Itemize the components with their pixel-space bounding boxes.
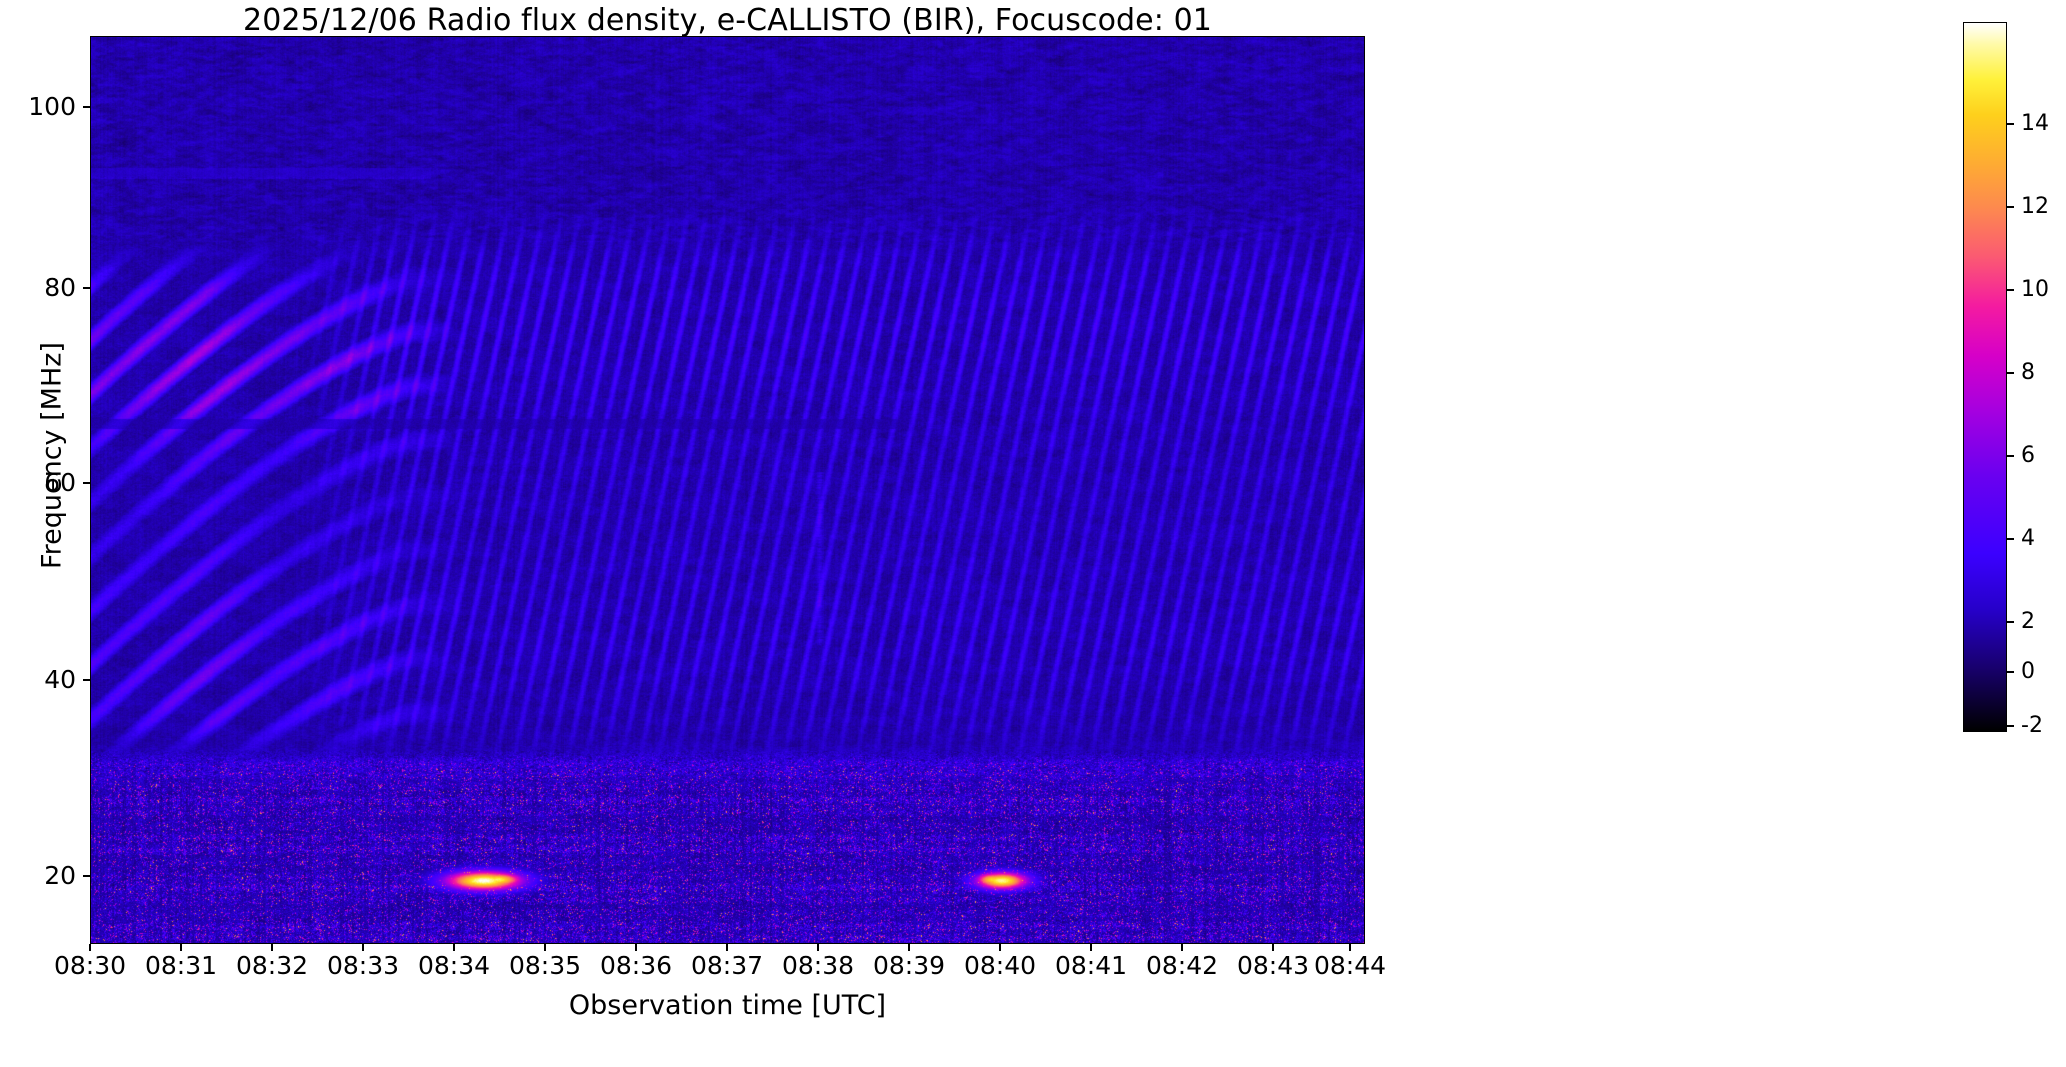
y-tick-mark: [83, 875, 90, 877]
y-tick-mark: [83, 482, 90, 484]
colorbar-tick-mark: [2007, 206, 2014, 208]
colorbar-tick-label: 14: [2021, 113, 2049, 135]
x-tick-mark: [453, 944, 455, 951]
y-tick-mark: [83, 106, 90, 108]
x-tick-mark: [1090, 944, 1092, 951]
colorbar-tick-label: 10: [2021, 279, 2049, 301]
colorbar-tick-label: 6: [2021, 445, 2035, 467]
x-tick-label: 08:44: [1290, 952, 1410, 980]
x-tick-mark: [999, 944, 1001, 951]
colorbar-tick-label: 0: [2021, 661, 2035, 683]
x-tick-mark: [1349, 944, 1351, 951]
y-tick-mark: [83, 287, 90, 289]
chart-title: 2025/12/06 Radio flux density, e-CALLIST…: [0, 4, 1455, 38]
colorbar-tick-mark: [2007, 372, 2014, 374]
colorbar-tick-mark: [2007, 289, 2014, 291]
colorbar-tick-mark: [2007, 671, 2014, 673]
y-tick-label: 100: [0, 94, 76, 119]
colorbar-tick-mark: [2007, 725, 2014, 727]
x-tick-mark: [817, 944, 819, 951]
colorbar-tick-label: 12: [2021, 196, 2049, 218]
colorbar-tick-label: 4: [2021, 528, 2035, 550]
x-tick-mark: [908, 944, 910, 951]
colorbar-tick-mark: [2007, 455, 2014, 457]
colorbar-tick-mark: [2007, 538, 2014, 540]
x-tick-mark: [1181, 944, 1183, 951]
colorbar-tick-mark: [2007, 123, 2014, 125]
spectrogram-plot-area[interactable]: [90, 36, 1365, 944]
x-tick-mark: [635, 944, 637, 951]
x-tick-mark: [544, 944, 546, 951]
colorbar-tick-label: 8: [2021, 362, 2035, 384]
colorbar[interactable]: [1963, 22, 2007, 732]
x-axis-label: Observation time [UTC]: [90, 990, 1365, 1021]
x-tick-mark: [726, 944, 728, 951]
y-tick-label: 20: [0, 863, 76, 888]
x-tick-mark: [362, 944, 364, 951]
x-tick-mark: [271, 944, 273, 951]
colorbar-tick-mark: [2007, 621, 2014, 623]
colorbar-tick-label: 2: [2021, 611, 2035, 633]
spectrogram-image: [90, 36, 1365, 944]
x-tick-mark: [180, 944, 182, 951]
y-tick-label: 40: [0, 667, 76, 692]
y-tick-label: 80: [0, 275, 76, 300]
figure-canvas: 2025/12/06 Radio flux density, e-CALLIST…: [0, 0, 2066, 1067]
colorbar-tick-label: -2: [2021, 715, 2043, 737]
x-tick-mark: [1272, 944, 1274, 951]
y-tick-label: 60: [0, 470, 76, 495]
y-tick-mark: [83, 679, 90, 681]
x-tick-mark: [89, 944, 91, 951]
